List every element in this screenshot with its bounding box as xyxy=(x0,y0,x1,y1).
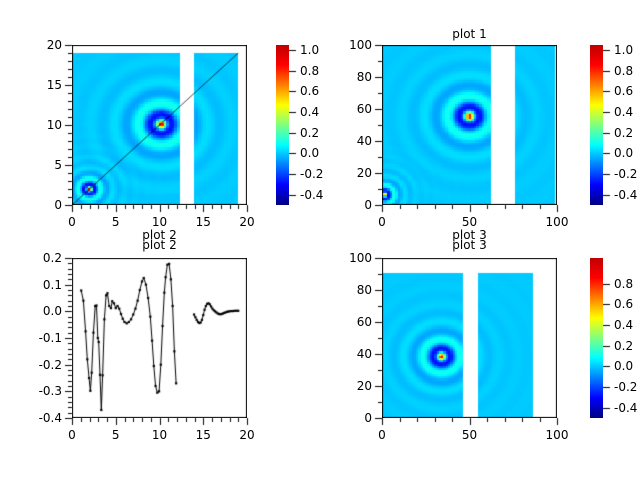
panel-bottom-right-ytick-label: 80 xyxy=(312,284,372,296)
panel-bottom-right: plot 30501000204060801000.80.60.40.20.0-… xyxy=(0,0,640,480)
panel-bottom-right-ytick-label: 40 xyxy=(312,348,372,360)
panel-bottom-right-colorbar xyxy=(590,258,603,418)
panel-bottom-right-xtick-label: 100 xyxy=(527,429,587,441)
panel-bottom-right-ytick-label: 60 xyxy=(312,316,372,328)
panel-bottom-right-colorbar-label: 0.4 xyxy=(614,319,640,331)
panel-bottom-right-axis-ticks xyxy=(368,252,571,440)
panel-bottom-right-colorbar-label: 0.8 xyxy=(614,278,640,290)
panel-bottom-right-colorbar-ticks xyxy=(603,258,611,418)
panel-bottom-right-xtick-label: 50 xyxy=(440,429,500,441)
panel-bottom-right-ytick-label: 100 xyxy=(312,252,372,264)
panel-bottom-right-ytick-label: 20 xyxy=(312,380,372,392)
panel-bottom-right-xtick-label: 0 xyxy=(352,429,412,441)
panel-bottom-right-title: plot 3 xyxy=(382,238,557,252)
panel-bottom-right-colorbar-label: 0.0 xyxy=(614,360,640,372)
panel-bottom-right-colorbar-label: 0.6 xyxy=(614,298,640,310)
panel-bottom-right-ytick-label: 0 xyxy=(312,412,372,424)
panel-bottom-right-colorbar-label: -0.2 xyxy=(614,381,640,393)
panel-bottom-right-colorbar-label: 0.2 xyxy=(614,340,640,352)
panel-bottom-right-colorbar-label: -0.4 xyxy=(614,402,640,414)
figure-canvas-root: plot 205101520051015201.00.80.60.40.20.0… xyxy=(0,0,640,480)
